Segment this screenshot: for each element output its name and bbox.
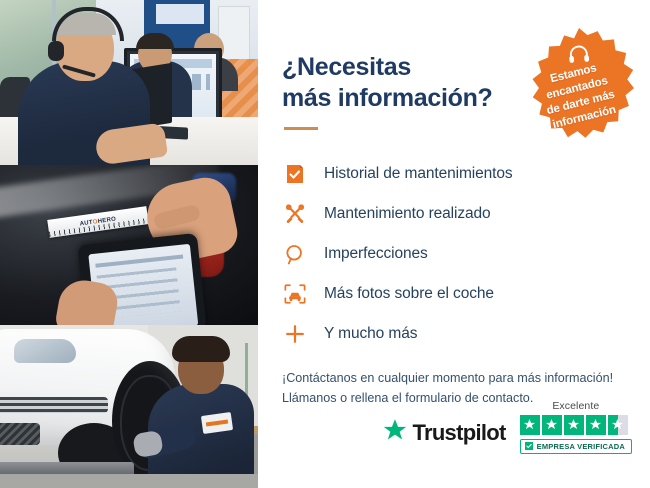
feature-label: Mantenimiento realizado: [324, 205, 491, 223]
star-icon: [520, 415, 540, 435]
magnifier-icon: [282, 244, 308, 265]
feature-item-imperfections: Imperfecciones: [282, 238, 650, 270]
feature-list: Historial de mantenimientos Mantenimient…: [282, 158, 650, 350]
verified-label: EMPRESA VERIFICADA: [537, 442, 625, 451]
lower-air-intake: [0, 423, 40, 445]
feature-item-more-photos: Más fotos sobre el coche: [282, 278, 650, 310]
trustpilot-logo: Trustpilot: [382, 418, 505, 454]
star-icon: [542, 415, 562, 435]
call-center-agent-photo: [0, 0, 258, 165]
clipboard-check-icon: [282, 163, 308, 185]
trustpilot-star-icon: [382, 418, 408, 448]
car-inspection-ruler-photo: AUTOHERO: [0, 165, 258, 325]
tools-icon: [282, 203, 308, 225]
check-icon: [525, 442, 533, 450]
page-title: ¿Necesitas más información?: [282, 52, 512, 113]
content-panel: ¿Necesitas más información? Estamos enca…: [258, 0, 650, 488]
plus-icon: [282, 324, 308, 344]
feature-item-maintenance-history: Historial de mantenimientos: [282, 158, 650, 190]
star-half-icon: [608, 415, 628, 435]
star-rating: [520, 415, 632, 435]
mechanic-figure: [138, 348, 254, 488]
promo-badge: Estamos encantados de darte más informac…: [520, 28, 638, 146]
photo-strip: AUTOHERO: [0, 0, 258, 488]
workshop-floor: [0, 474, 258, 488]
trustpilot-widget[interactable]: Trustpilot Excelente: [382, 400, 632, 455]
headline-line-2: más información?: [282, 84, 493, 112]
trustpilot-rating-block: Excelente: [520, 400, 632, 455]
info-promo-card: AUTOHERO: [0, 0, 650, 488]
star-icon: [564, 415, 584, 435]
trustpilot-wordmark: Trustpilot: [412, 420, 505, 446]
car-photo-frame-icon: [282, 284, 308, 304]
feature-item-maintenance-done: Mantenimiento realizado: [282, 198, 650, 230]
mechanic-wheel-inspection-photo: [0, 325, 258, 488]
feature-label: Más fotos sobre el coche: [324, 285, 494, 303]
rating-label: Excelente: [520, 400, 632, 412]
feature-label: Historial de mantenimientos: [324, 165, 513, 183]
feature-label: Imperfecciones: [324, 245, 428, 263]
star-icon: [586, 415, 606, 435]
wall-poster: [156, 4, 204, 24]
front-grille: [0, 397, 108, 413]
headline-line-1: ¿Necesitas: [282, 53, 411, 81]
headlight: [14, 339, 76, 363]
verified-company-badge: EMPRESA VERIFICADA: [520, 439, 632, 454]
feature-item-much-more: Y mucho más: [282, 318, 650, 350]
accent-divider: [284, 127, 318, 130]
contact-line-1: ¡Contáctanos en cualquier momento para m…: [282, 371, 613, 385]
feature-label: Y mucho más: [324, 325, 417, 343]
